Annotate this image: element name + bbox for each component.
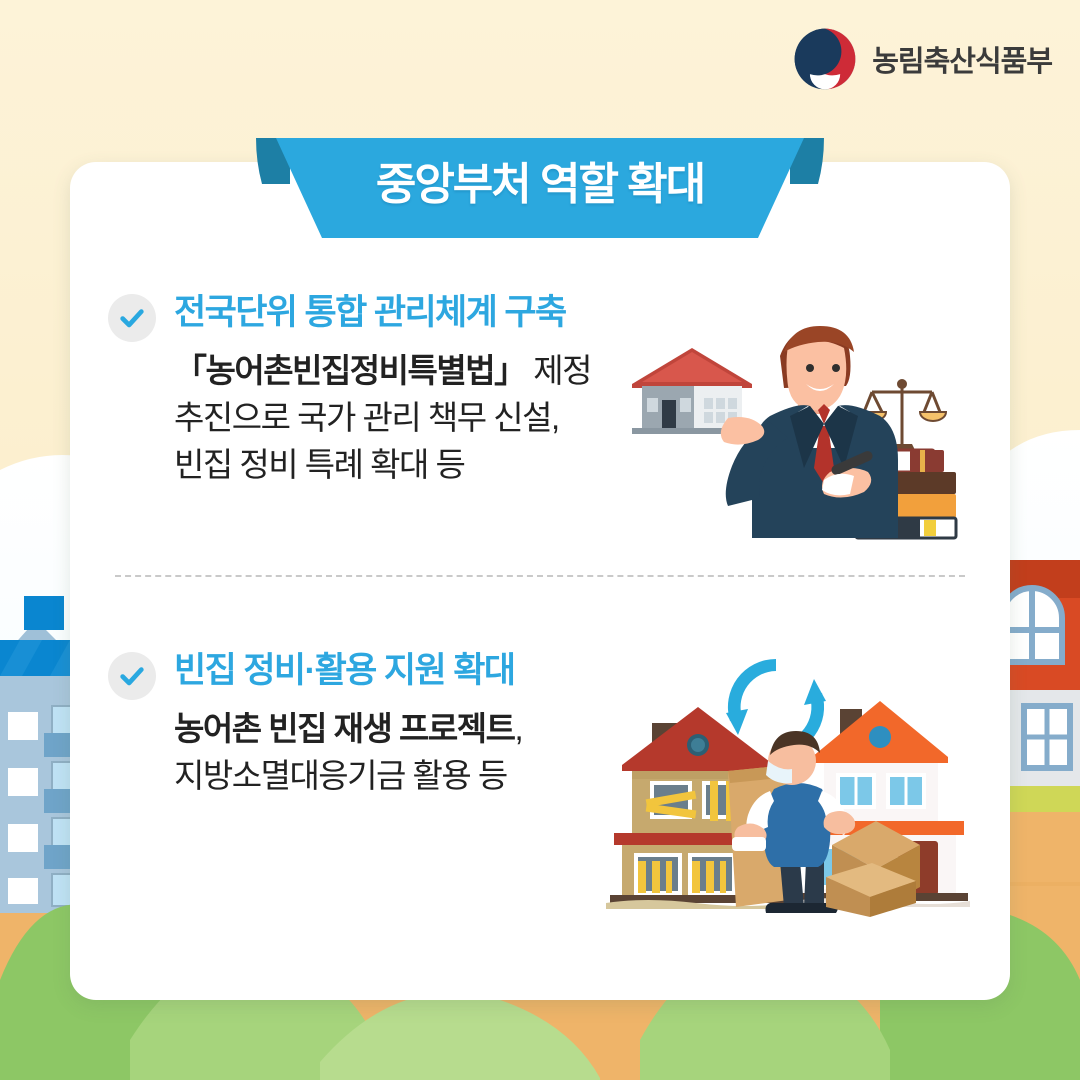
section-1-line-2: 추진으로 국가 관리 책무 신설, bbox=[174, 395, 591, 442]
section-1-line-1: 「농어촌빈집정비특별법」 제정 bbox=[174, 348, 591, 395]
banner-ribbon: 중앙부처 역할 확대 bbox=[256, 138, 824, 238]
section-1-header: 전국단위 통합 관리체계 구축 bbox=[108, 292, 591, 342]
section-1-body: 「농어촌빈집정비특별법」 제정 추진으로 국가 관리 책무 신설, 빈집 정비 … bbox=[174, 348, 591, 489]
check-circle-icon bbox=[108, 294, 156, 342]
section-national-management-system: 전국단위 통합 관리체계 구축 「농어촌빈집정비특별법」 제정 추진으로 국가 … bbox=[108, 292, 591, 489]
check-circle-icon bbox=[108, 652, 156, 700]
businessman-figure bbox=[721, 326, 898, 538]
section-1-title: 전국단위 통합 관리체계 구축 bbox=[174, 292, 566, 333]
ministry-logo: 농림축산식품부 bbox=[792, 26, 1052, 92]
infographic-canvas: 농림축산식품부 중앙부처 역할 확대 전국단위 통합 관리체계 구축 「농어촌빈… bbox=[0, 0, 1080, 1080]
section-2-title: 빈집 정비·활용 지원 확대 bbox=[174, 650, 514, 691]
section-divider bbox=[115, 575, 965, 577]
businessman-holding-house-illustration bbox=[620, 312, 960, 542]
section-1-line-3: 빈집 정비 특례 확대 등 bbox=[174, 442, 591, 489]
section-2-header: 빈집 정비·활용 지원 확대 bbox=[108, 650, 522, 700]
section-1-line-1-bold: 「농어촌빈집정비특별법」 bbox=[174, 352, 526, 389]
section-2-line-1: 농어촌 빈집 재생 프로젝트, bbox=[174, 706, 522, 753]
section-2-line-2: 지방소멸대응기금 활용 등 bbox=[174, 753, 522, 800]
ministry-name-label: 농림축산식품부 bbox=[872, 38, 1052, 80]
section-2-body: 농어촌 빈집 재생 프로젝트, 지방소멸대응기금 활용 등 bbox=[174, 706, 522, 800]
section-2-line-1-bold: 농어촌 빈집 재생 프로젝트 bbox=[174, 710, 514, 747]
house-renovation-illustration bbox=[580, 645, 970, 917]
banner-title: 중앙부처 역할 확대 bbox=[256, 138, 824, 222]
section-2-line-1-normal: , bbox=[514, 710, 522, 747]
section-1-line-1-normal: 제정 bbox=[526, 352, 591, 389]
section-vacant-house-support: 빈집 정비·활용 지원 확대 농어촌 빈집 재생 프로젝트, 지방소멸대응기금 … bbox=[108, 650, 522, 800]
korea-government-taegeuk-logo-icon bbox=[792, 26, 858, 92]
